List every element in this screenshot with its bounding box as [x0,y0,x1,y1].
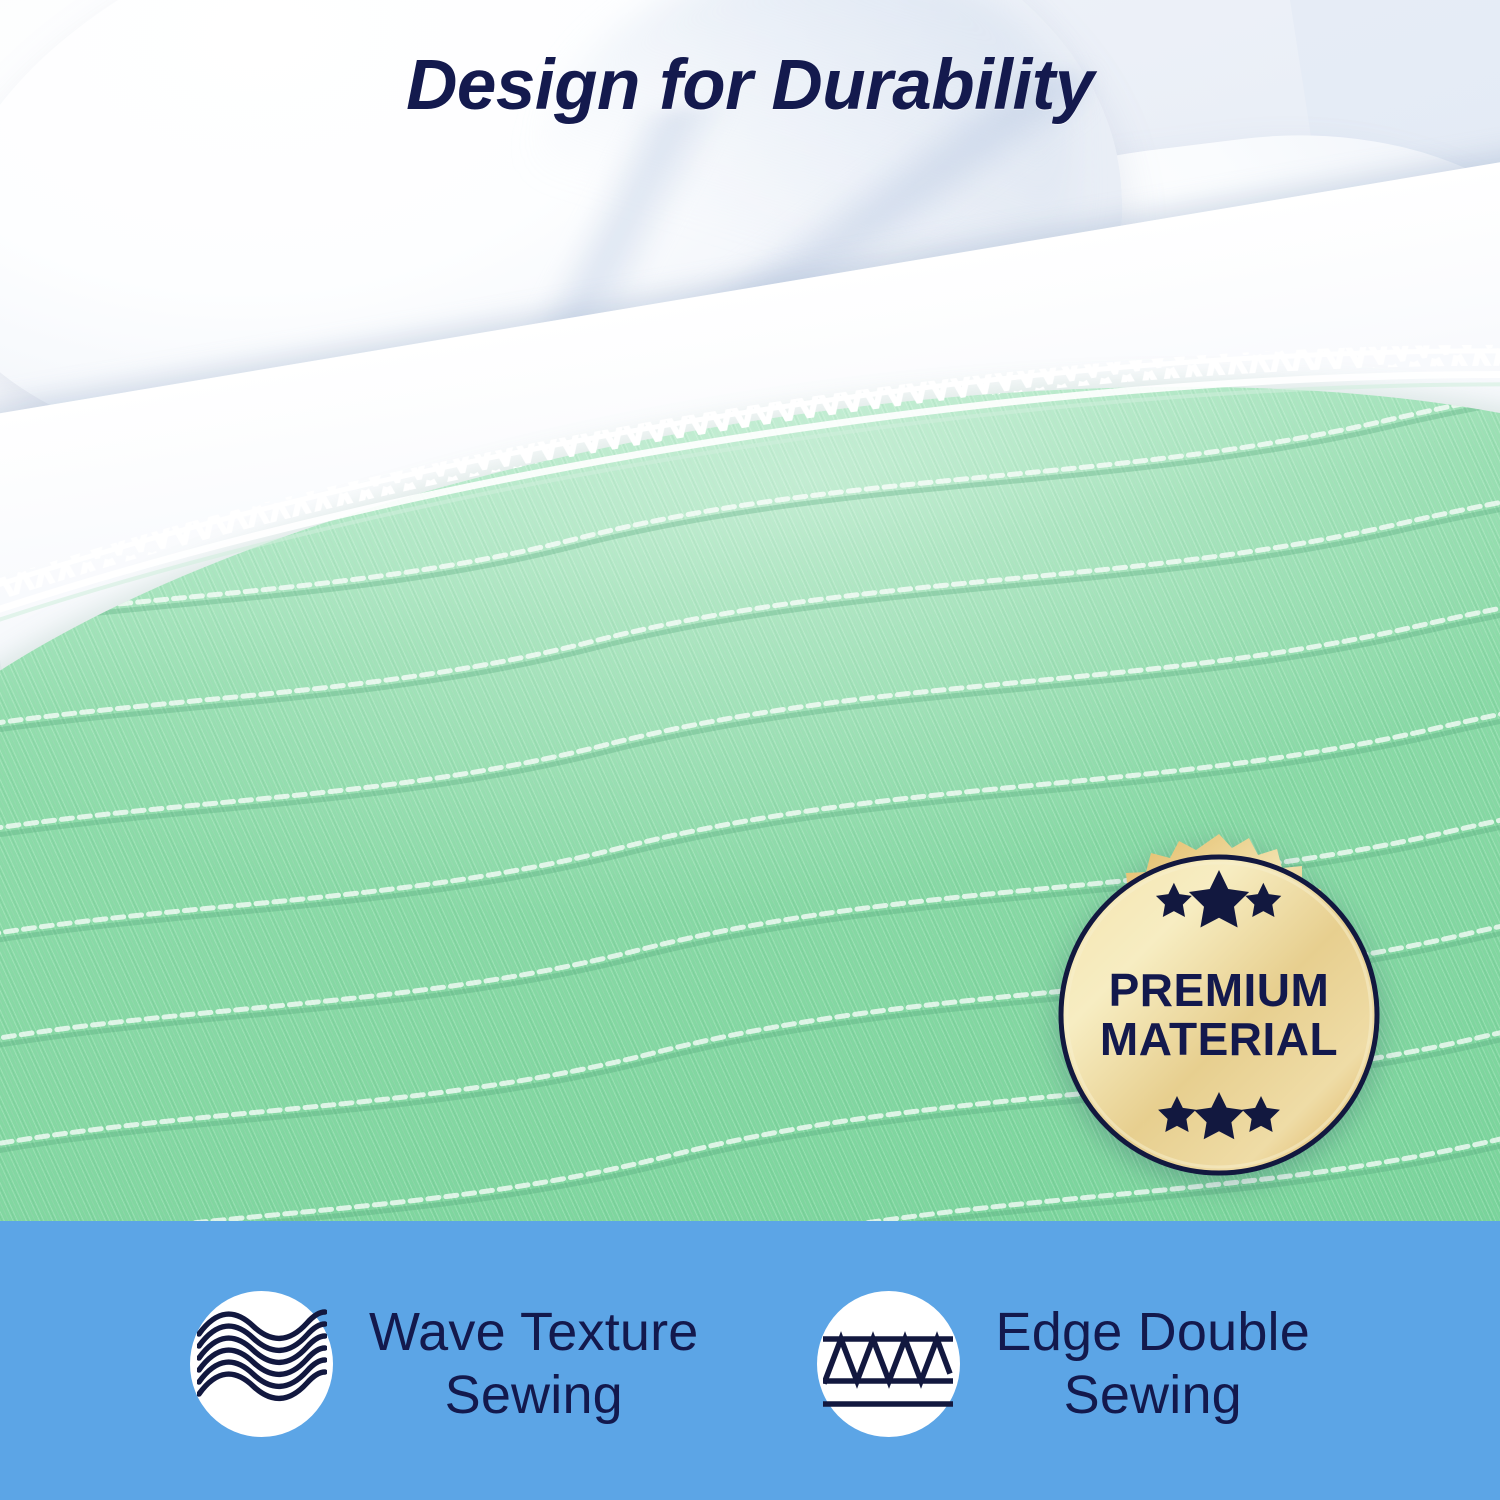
badge-line-1: PREMIUM [1109,966,1330,1015]
feature-band: Wave Texture Sewing Edge Double Sewing [0,1221,1500,1500]
feature-label: Edge Double Sewing [996,1301,1310,1426]
premium-material-badge: PREMIUM MATERIAL [1032,828,1406,1202]
badge-line-2: MATERIAL [1100,1015,1338,1064]
feature-wave-texture-sewing: Wave Texture Sewing [190,1291,699,1437]
feature-edge-double-sewing: Edge Double Sewing [817,1291,1310,1437]
feature-list: Wave Texture Sewing Edge Double Sewing [0,1221,1500,1500]
wave-lines-icon [190,1291,333,1437]
page-title: Design for Durability [0,45,1500,126]
product-marketing-image: PREMIUM MATERIAL Design for Durability [0,0,1500,1500]
badge-label: PREMIUM MATERIAL [1032,828,1406,1202]
zigzag-stitch-icon [817,1291,960,1437]
feature-label: Wave Texture Sewing [369,1301,699,1426]
